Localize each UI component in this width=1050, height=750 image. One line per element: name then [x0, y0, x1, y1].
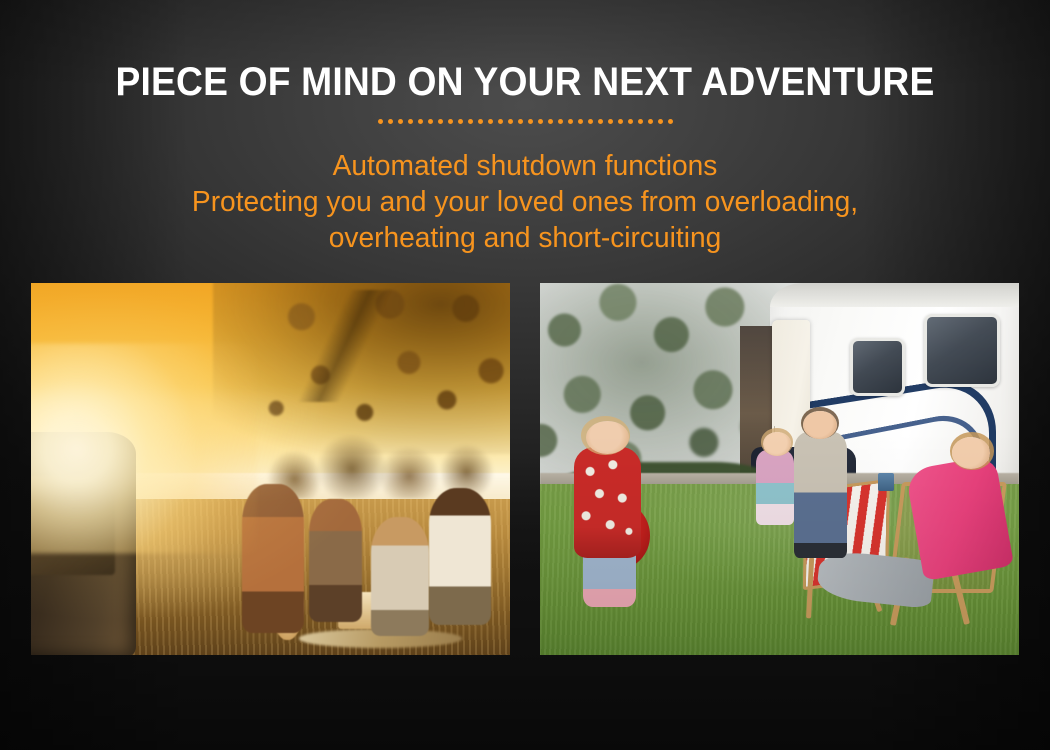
divider-dot [498, 119, 503, 124]
toddler-child [756, 450, 794, 524]
seated-woman-head [952, 437, 990, 469]
person-child [371, 517, 428, 636]
divider-dot [508, 119, 513, 124]
coffee-mug [878, 473, 894, 492]
divider-dot [668, 119, 673, 124]
person-seated-man [309, 499, 362, 622]
standing-man-head [803, 411, 837, 439]
divider-dot [398, 119, 403, 124]
dotted-divider-icon [0, 119, 1050, 124]
divider-dot [618, 119, 623, 124]
divider-dot [528, 119, 533, 124]
sun-flare [31, 343, 257, 553]
divider-dot [638, 119, 643, 124]
divider-dot [628, 119, 633, 124]
divider-dot [478, 119, 483, 124]
divider-dot [488, 119, 493, 124]
promo-banner: PIECE OF MIND ON YOUR NEXT ADVENTURE Aut… [0, 0, 1050, 750]
subheading-line-2: Protecting you and your loved ones from … [16, 184, 1035, 220]
divider-dot [648, 119, 653, 124]
divider-dot [408, 119, 413, 124]
page-title: PIECE OF MIND ON YOUR NEXT ADVENTURE [37, 60, 1014, 104]
subheading: Automated shutdown functions Protecting … [16, 148, 1035, 256]
divider-dot [458, 119, 463, 124]
sunset-picnic-photo [31, 283, 510, 655]
divider-dot [518, 119, 523, 124]
divider-dot [578, 119, 583, 124]
motorhome-window-small [850, 338, 906, 396]
standing-man [794, 432, 847, 558]
person-woman [429, 488, 491, 626]
subheading-line-1: Automated shutdown functions [16, 148, 1035, 184]
rv-camping-photo [540, 283, 1019, 655]
divider-dot [448, 119, 453, 124]
divider-dot [378, 119, 383, 124]
divider-dot [388, 119, 393, 124]
divider-dot [418, 119, 423, 124]
divider-dot [468, 119, 473, 124]
tree-branch [223, 290, 472, 402]
divider-dot [558, 119, 563, 124]
divider-dot [598, 119, 603, 124]
motorhome-roof [770, 283, 1019, 307]
divider-dot [428, 119, 433, 124]
divider-dot [658, 119, 663, 124]
divider-dot [608, 119, 613, 124]
divider-dot [538, 119, 543, 124]
divider-dot [568, 119, 573, 124]
divider-dot [438, 119, 443, 124]
divider-dot [548, 119, 553, 124]
photo-row [31, 283, 1019, 655]
toddler-head [763, 432, 792, 456]
divider-dot [588, 119, 593, 124]
motorhome-window-large [924, 314, 1000, 387]
seated-woman [905, 455, 1014, 581]
bouncing-girl-head [586, 421, 629, 454]
subheading-line-3: overheating and short-circuiting [16, 220, 1035, 256]
bouncing-girl [574, 447, 641, 559]
